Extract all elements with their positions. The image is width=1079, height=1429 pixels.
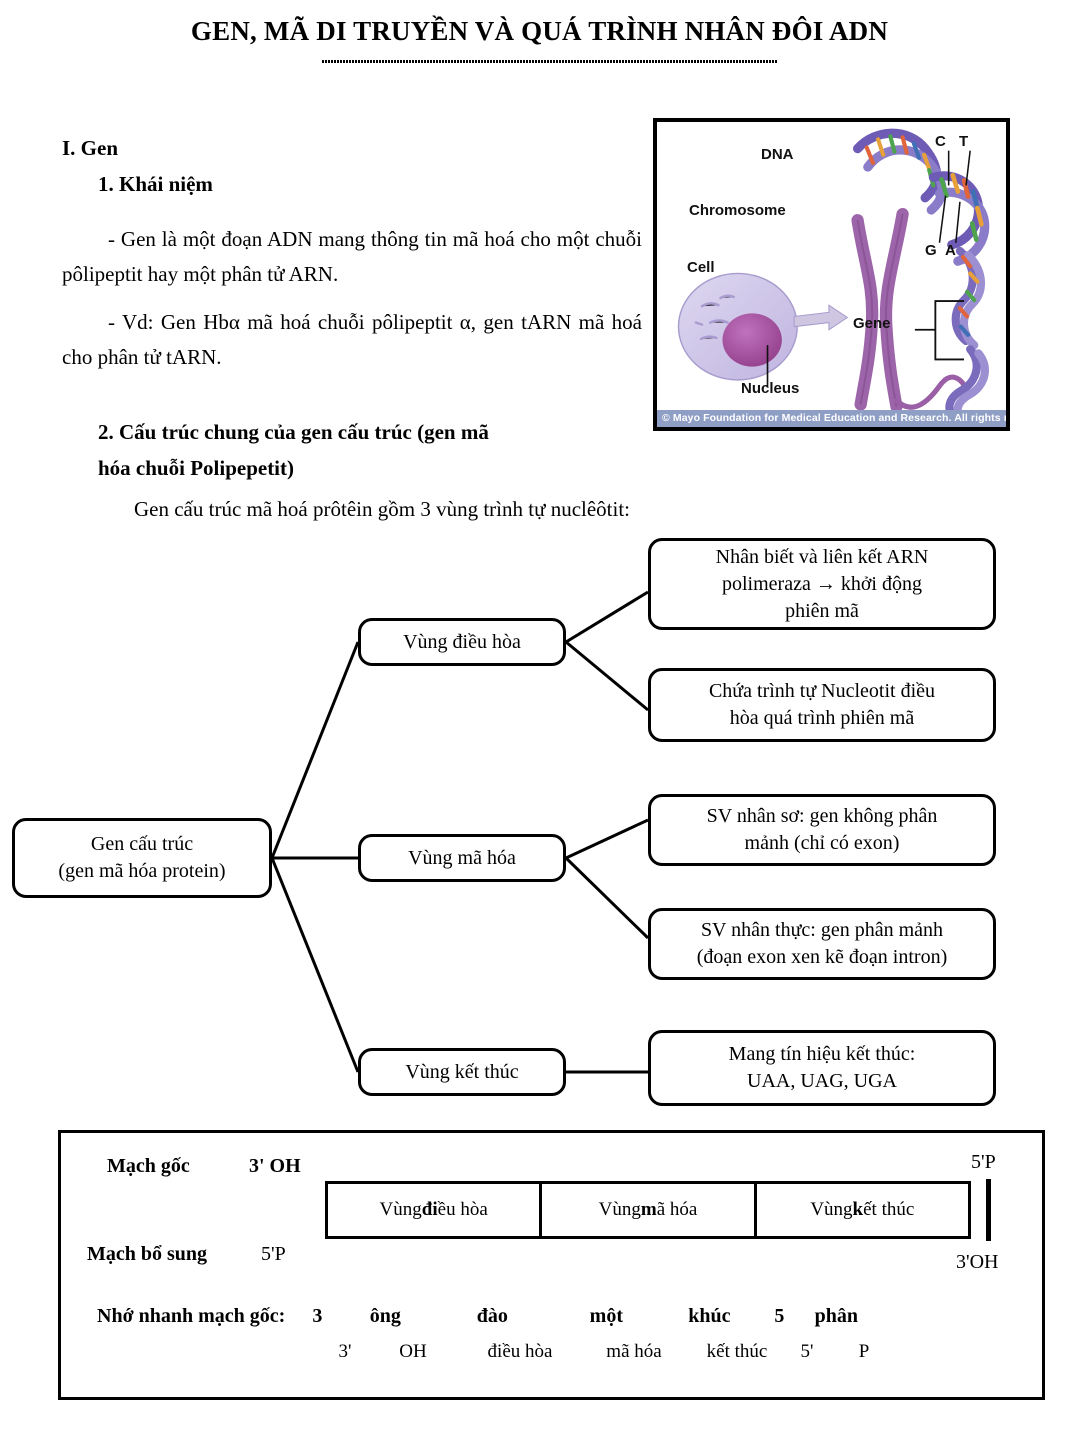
strand-end-template-end: 5'P bbox=[971, 1151, 996, 1174]
figure-base-t: T bbox=[959, 133, 968, 150]
strand-region-regulatory-bold: đi bbox=[422, 1199, 438, 1221]
strand-region-terminator-bold: k bbox=[853, 1199, 864, 1221]
flow-node-root-line2: (gen mã hóa protein) bbox=[58, 858, 225, 885]
strand-region-cell-regulatory[interactable]: Vùng điều hòa bbox=[328, 1184, 542, 1236]
flow-node-vung-ket-thuc[interactable]: Vùng kết thúc bbox=[358, 1048, 566, 1096]
paragraph-gen-example-text: - Vd: Gen Hbα mã hoá chuỗi pôlipeptit α,… bbox=[62, 310, 642, 369]
strand-end-complement-end: 3'OH bbox=[956, 1251, 999, 1274]
strand-region-coding-suffix: ã hóa bbox=[657, 1199, 698, 1221]
mnemonic-bottom-2: OH bbox=[365, 1341, 461, 1363]
figure-credit: © Mayo Foundation for Medical Education … bbox=[657, 410, 1006, 427]
mnemonic-row-bottom: 3' OH điều hòa mã hóa kết thúc 5' P bbox=[325, 1341, 899, 1363]
flow-leaf-4-line2: (đoạn exon xen kẽ đoạn intron) bbox=[697, 944, 947, 971]
page-title: GEN, MÃ DI TRUYỀN VÀ QUÁ TRÌNH NHÂN ĐÔI … bbox=[0, 16, 1079, 47]
strand-end-complement-start: 5'P bbox=[261, 1243, 286, 1266]
figure-label-chromosome: Chromosome bbox=[689, 202, 786, 219]
figure-base-c: C bbox=[935, 133, 946, 150]
strand-right-end-bar bbox=[986, 1179, 991, 1241]
mnemonic-bottom-1: 3' bbox=[325, 1341, 365, 1363]
flow-leaf-prokaryote-gene[interactable]: SV nhân sơ: gen không phân mảnh (chỉ có … bbox=[648, 794, 996, 866]
mnemonic-top-6: 5 bbox=[757, 1305, 801, 1328]
document-page: GEN, MÃ DI TRUYỀN VÀ QUÁ TRÌNH NHÂN ĐÔI … bbox=[0, 0, 1079, 1429]
strand-region-coding-prefix: Vùng bbox=[599, 1199, 641, 1221]
figure-label-cell: Cell bbox=[687, 259, 715, 276]
mnemonic-top-2: ông bbox=[337, 1305, 433, 1328]
strand-end-template-start: 3' OH bbox=[249, 1155, 301, 1178]
flow-leaf-1-line2: polimeraza → khởi động bbox=[722, 571, 922, 598]
strand-label-complement: Mạch bổ sung bbox=[87, 1243, 207, 1266]
strand-region-regulatory-suffix: ều hòa bbox=[438, 1199, 488, 1221]
flow-leaf-5-line1: Mang tín hiệu kết thúc: bbox=[729, 1041, 916, 1068]
strand-diagram-frame: Mạch gốc 3' OH 5'P Mạch bổ sung 5'P 3'OH… bbox=[58, 1130, 1045, 1400]
flow-leaf-2-line1: Chứa trình tự Nucleotit điều bbox=[709, 678, 935, 705]
figure-base-g: G bbox=[925, 242, 937, 259]
flow-leaf-1-line3: phiên mã bbox=[785, 598, 859, 625]
mnemonic-bottom-5: kết thúc bbox=[689, 1341, 785, 1363]
mnemonic-bottom-7: P bbox=[829, 1341, 899, 1363]
flow-node-vung-dieu-hoa[interactable]: Vùng điều hòa bbox=[358, 618, 566, 666]
flow-leaf-stop-codons[interactable]: Mang tín hiệu kết thúc: UAA, UAG, UGA bbox=[648, 1030, 996, 1106]
mnemonic-top-3: đào bbox=[433, 1305, 551, 1328]
mnemonic-lead-label: Nhớ nhanh mạch gốc: bbox=[97, 1305, 285, 1328]
subheading-cau-truc-line2: hóa chuỗi Polipepetit) bbox=[98, 456, 638, 481]
flow-node-vung-ma-hoa[interactable]: Vùng mã hóa bbox=[358, 834, 566, 882]
flow-leaf-5-line2: UAA, UAG, UGA bbox=[747, 1068, 897, 1095]
paragraph-gen-definition: - Gen là một đoạn ADN mang thông tin mã … bbox=[62, 222, 642, 292]
paragraph-gen-definition-text: - Gen là một đoạn ADN mang thông tin mã … bbox=[62, 227, 642, 286]
gene-structure-figure: DNA Chromosome Cell Nucleus Gene C T G A… bbox=[653, 118, 1010, 431]
figure-label-nucleus: Nucleus bbox=[741, 380, 799, 397]
strand-region-table: Vùng điều hòa Vùng mã hóa Vùng kết thúc bbox=[325, 1181, 971, 1239]
flow-leaf-3-line1: SV nhân sơ: gen không phân bbox=[707, 803, 938, 830]
subheading-khai-niem: 1. Khái niệm bbox=[98, 172, 213, 197]
strand-label-template: Mạch gốc bbox=[107, 1155, 190, 1178]
flow-leaf-1-line1: Nhân biết và liên kết ARN bbox=[716, 544, 929, 571]
flow-leaf-eukaryote-gene[interactable]: SV nhân thực: gen phân mảnh (đoạn exon x… bbox=[648, 908, 996, 980]
title-underline-rule bbox=[322, 60, 777, 63]
heading-section-1: I. Gen bbox=[62, 136, 118, 161]
figure-base-a: A bbox=[945, 242, 956, 259]
flow-leaf-4-line1: SV nhân thực: gen phân mảnh bbox=[701, 917, 943, 944]
flow-node-root[interactable]: Gen cấu trúc (gen mã hóa protein) bbox=[12, 818, 272, 898]
mnemonic-row-top: Nhớ nhanh mạch gốc: 3 ông đào một khúc 5… bbox=[97, 1305, 871, 1328]
flow-leaf-recognize-arn-polymerase[interactable]: Nhân biết và liên kết ARN polimeraza → k… bbox=[648, 538, 996, 630]
flow-leaf-3-line2: mảnh (chỉ có exon) bbox=[745, 830, 900, 857]
strand-region-coding-bold: m bbox=[641, 1199, 657, 1221]
mnemonic-top-1: 3 bbox=[297, 1305, 337, 1328]
subheading-cau-truc-line1: 2. Cấu trúc chung của gen cấu trúc (gen … bbox=[98, 420, 638, 445]
strand-region-terminator-prefix: Vùng bbox=[810, 1199, 852, 1221]
strand-region-cell-terminator[interactable]: Vùng kết thúc bbox=[757, 1184, 968, 1236]
figure-label-gene: Gene bbox=[853, 315, 891, 332]
mnemonic-bottom-6: 5' bbox=[785, 1341, 829, 1363]
figure-label-dna: DNA bbox=[761, 146, 794, 163]
mnemonic-bottom-4: mã hóa bbox=[579, 1341, 689, 1363]
strand-region-regulatory-prefix: Vùng bbox=[380, 1199, 422, 1221]
flow-node-root-line1: Gen cấu trúc bbox=[91, 831, 193, 858]
flow-leaf-2-line2: hòa quá trình phiên mã bbox=[730, 705, 914, 732]
mnemonic-top-5: khúc bbox=[661, 1305, 757, 1328]
mnemonic-top-4: một bbox=[551, 1305, 661, 1328]
paragraph-gen-example: - Vd: Gen Hbα mã hoá chuỗi pôlipeptit α,… bbox=[62, 305, 642, 375]
strand-region-terminator-suffix: ết thúc bbox=[863, 1199, 914, 1221]
mnemonic-bottom-3: điều hòa bbox=[461, 1341, 579, 1363]
mnemonic-top-7: phân bbox=[801, 1305, 871, 1328]
strand-region-cell-coding[interactable]: Vùng mã hóa bbox=[542, 1184, 756, 1236]
flow-leaf-regulatory-nucleotide-sequence[interactable]: Chứa trình tự Nucleotit điều hòa quá trì… bbox=[648, 668, 996, 742]
